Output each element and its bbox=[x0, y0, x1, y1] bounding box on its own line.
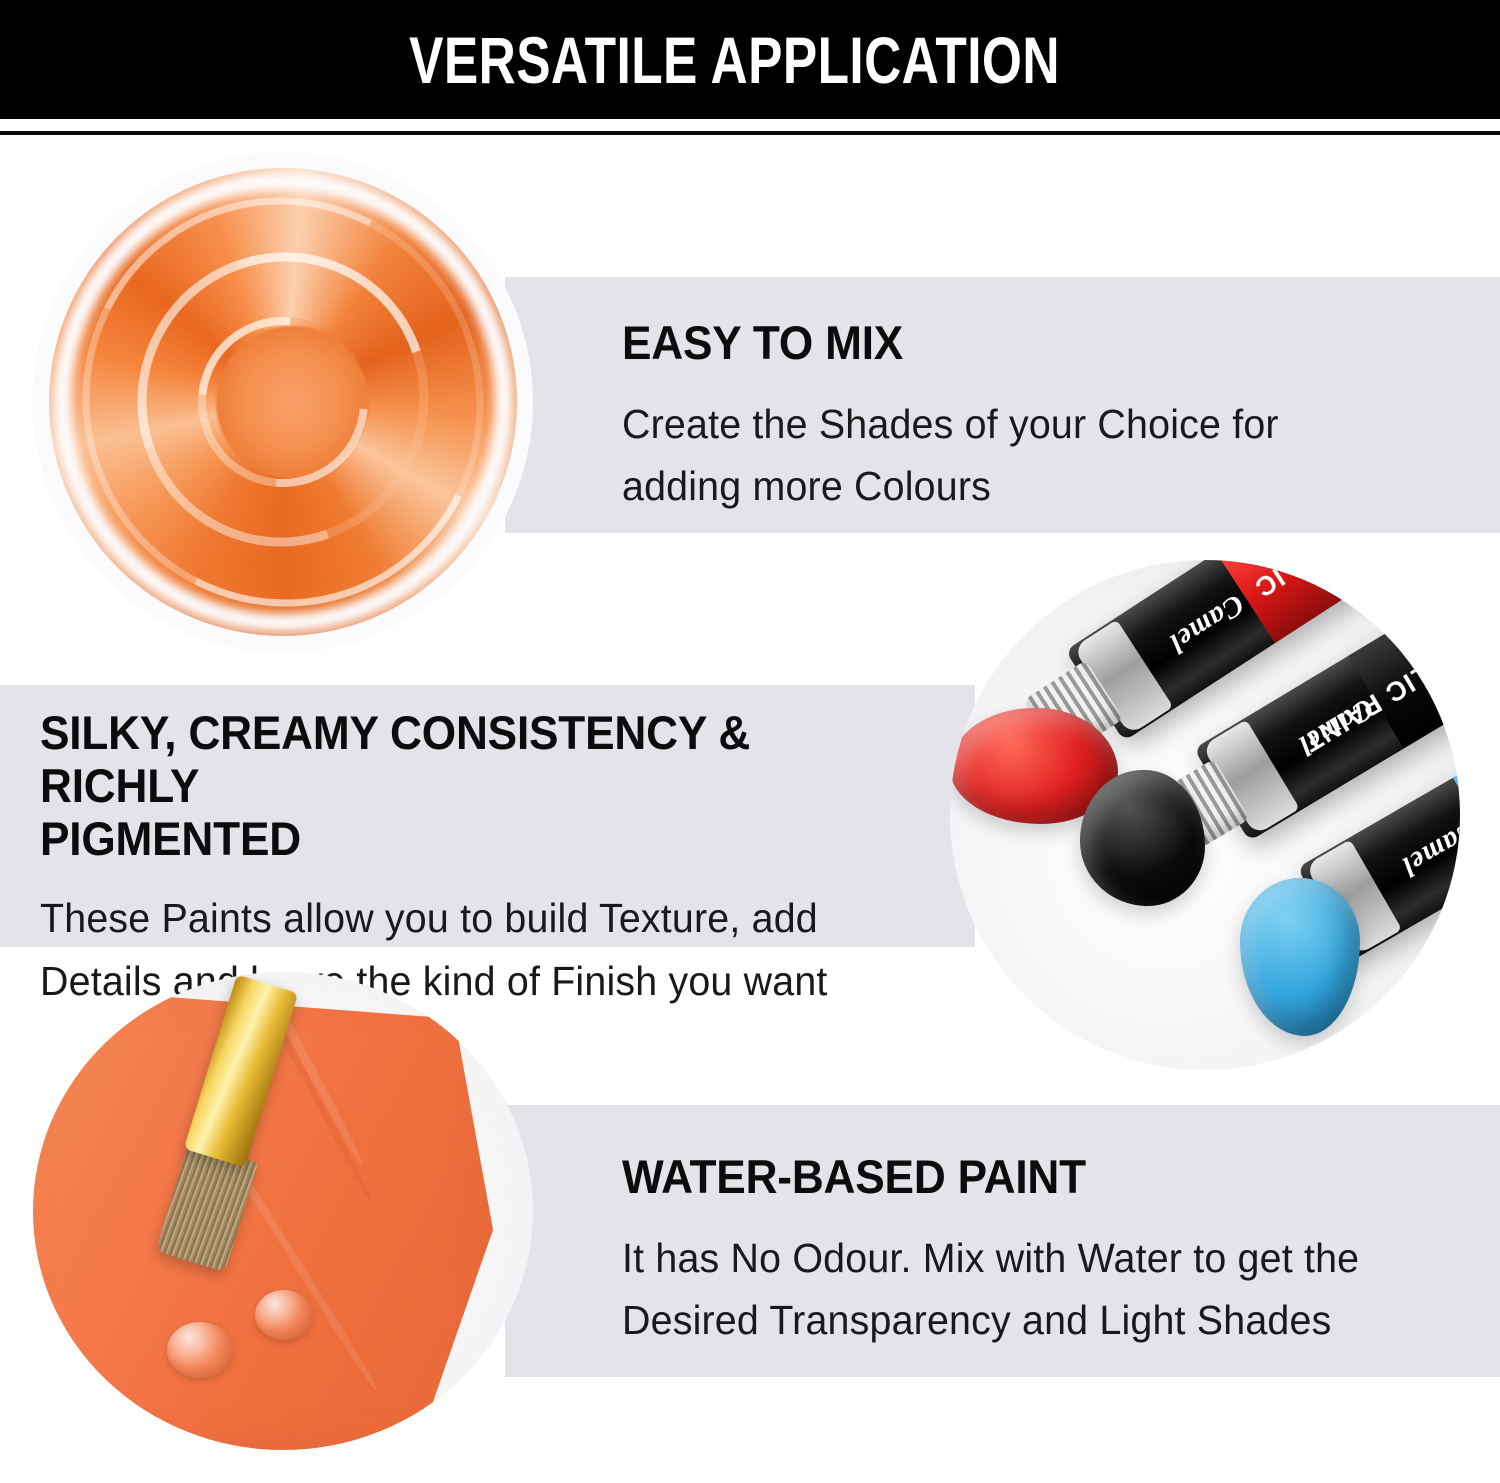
feature-heading-silky-line-2: PIGMENTED bbox=[40, 812, 886, 865]
feature-text-silky-creamy: SILKY, CREAMY CONSISTENCY & RICHLY PIGME… bbox=[40, 706, 940, 1012]
water-droplet bbox=[167, 1322, 233, 1378]
feature-body-line-1: Create the Shades of your Choice for bbox=[622, 393, 1428, 455]
paint-blob-black bbox=[1080, 770, 1205, 906]
feature-text-water-based: WATER-BASED PAINT It has No Odour. Mix w… bbox=[622, 1150, 1472, 1352]
feature-body-line-1: It has No Odour. Mix with Water to get t… bbox=[622, 1227, 1438, 1289]
heading-body-spacer bbox=[40, 865, 940, 887]
feature-heading-silky-line-1: SILKY, CREAMY CONSISTENCY & RICHLY bbox=[40, 706, 886, 812]
feature-body-line-2: adding more Colours bbox=[622, 455, 1428, 517]
swirl-surface-border bbox=[33, 152, 533, 652]
paint-blob-blue bbox=[1240, 878, 1360, 1036]
feature-heading-water-based: WATER-BASED PAINT bbox=[622, 1150, 1421, 1203]
acrylic-paint-tubes-photo: Camel ACRYLIC Camel ACRYLIC PAINT Camel … bbox=[950, 560, 1460, 1070]
feature-body-line-1: These Paints allow you to build Texture,… bbox=[40, 887, 904, 949]
page-title: VERSATILE APPLICATION bbox=[409, 27, 1091, 93]
brush-on-orange-paint-photo bbox=[33, 972, 533, 1450]
heading-body-spacer bbox=[622, 369, 1462, 393]
feature-body-line-2: Desired Transparency and Light Shades bbox=[622, 1289, 1438, 1351]
feature-heading-easy-to-mix: EASY TO MIX bbox=[622, 316, 1412, 369]
header-banner: VERSATILE APPLICATION bbox=[0, 0, 1500, 119]
tube-brand-script-blue: Camel bbox=[1396, 813, 1460, 883]
tube-brand-script-red: Camel bbox=[1163, 587, 1250, 660]
header-divider-rule bbox=[0, 131, 1500, 135]
feature-text-easy-to-mix: EASY TO MIX Create the Shades of your Ch… bbox=[622, 316, 1462, 518]
water-droplet bbox=[255, 1290, 313, 1340]
heading-body-spacer bbox=[622, 1203, 1472, 1227]
orange-paint-swirl-photo bbox=[33, 152, 533, 652]
